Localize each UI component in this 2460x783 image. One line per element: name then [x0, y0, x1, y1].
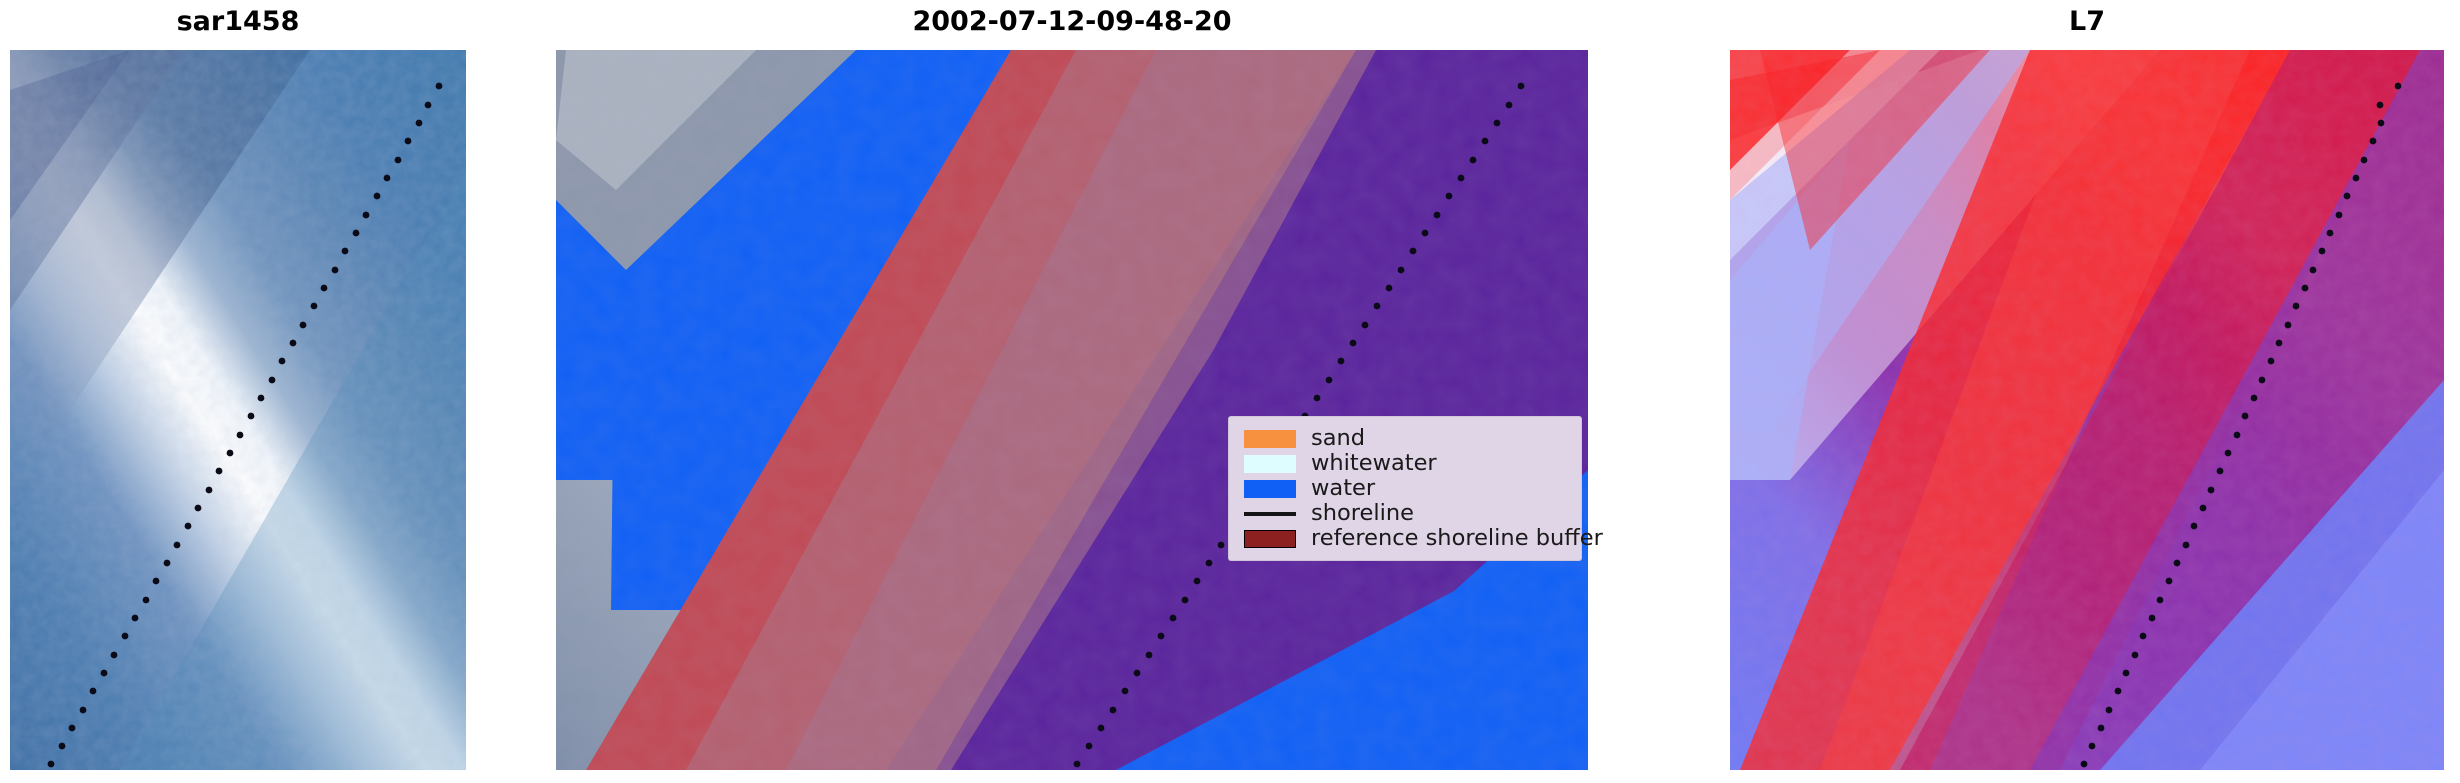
- legend-label-whitewater: whitewater: [1301, 451, 1437, 476]
- panel-title-satellite: L7: [1730, 6, 2444, 37]
- classified-raster-image: [556, 50, 1588, 770]
- legend-label-sand: sand: [1301, 426, 1365, 451]
- image-panel-sar[interactable]: [10, 50, 466, 770]
- sand-color-swatch: [1244, 430, 1296, 448]
- legend-swatch-wrap-shoreline: [1239, 512, 1301, 516]
- legend-item-water: water: [1239, 476, 1571, 501]
- water-color-swatch: [1244, 480, 1296, 498]
- legend-box: sand whitewater water shoreline referenc: [1228, 416, 1582, 561]
- legend-label-shoreline: shoreline: [1301, 501, 1414, 526]
- panel-title-sar: sar1458: [10, 6, 466, 37]
- legend-item-whitewater: whitewater: [1239, 451, 1571, 476]
- legend-label-water: water: [1301, 476, 1375, 501]
- reference-shoreline-buffer-color-swatch: [1244, 530, 1296, 548]
- matplotlib-figure: sar1458 2002-07-12-09-48-20 L7: [0, 0, 2460, 783]
- image-panel-l7[interactable]: [1730, 50, 2444, 770]
- legend-swatch-wrap-sand: [1239, 430, 1301, 448]
- legend-swatch-wrap-whitewater: [1239, 455, 1301, 473]
- legend-label-reference-shoreline-buffer: reference shoreline buffer: [1301, 526, 1603, 551]
- image-panel-classified[interactable]: [556, 50, 1588, 770]
- panel-title-datetime: 2002-07-12-09-48-20: [556, 6, 1588, 37]
- legend-item-reference-shoreline-buffer: reference shoreline buffer: [1239, 526, 1571, 551]
- l7-raster-image: [1730, 50, 2444, 770]
- legend-swatch-wrap-water: [1239, 480, 1301, 498]
- shoreline-line-swatch: [1244, 512, 1296, 516]
- legend-swatch-wrap-buffer: [1239, 530, 1301, 548]
- legend-item-shoreline: shoreline: [1239, 501, 1571, 526]
- whitewater-color-swatch: [1244, 455, 1296, 473]
- sar-raster-image: [10, 50, 466, 770]
- legend-item-sand: sand: [1239, 426, 1571, 451]
